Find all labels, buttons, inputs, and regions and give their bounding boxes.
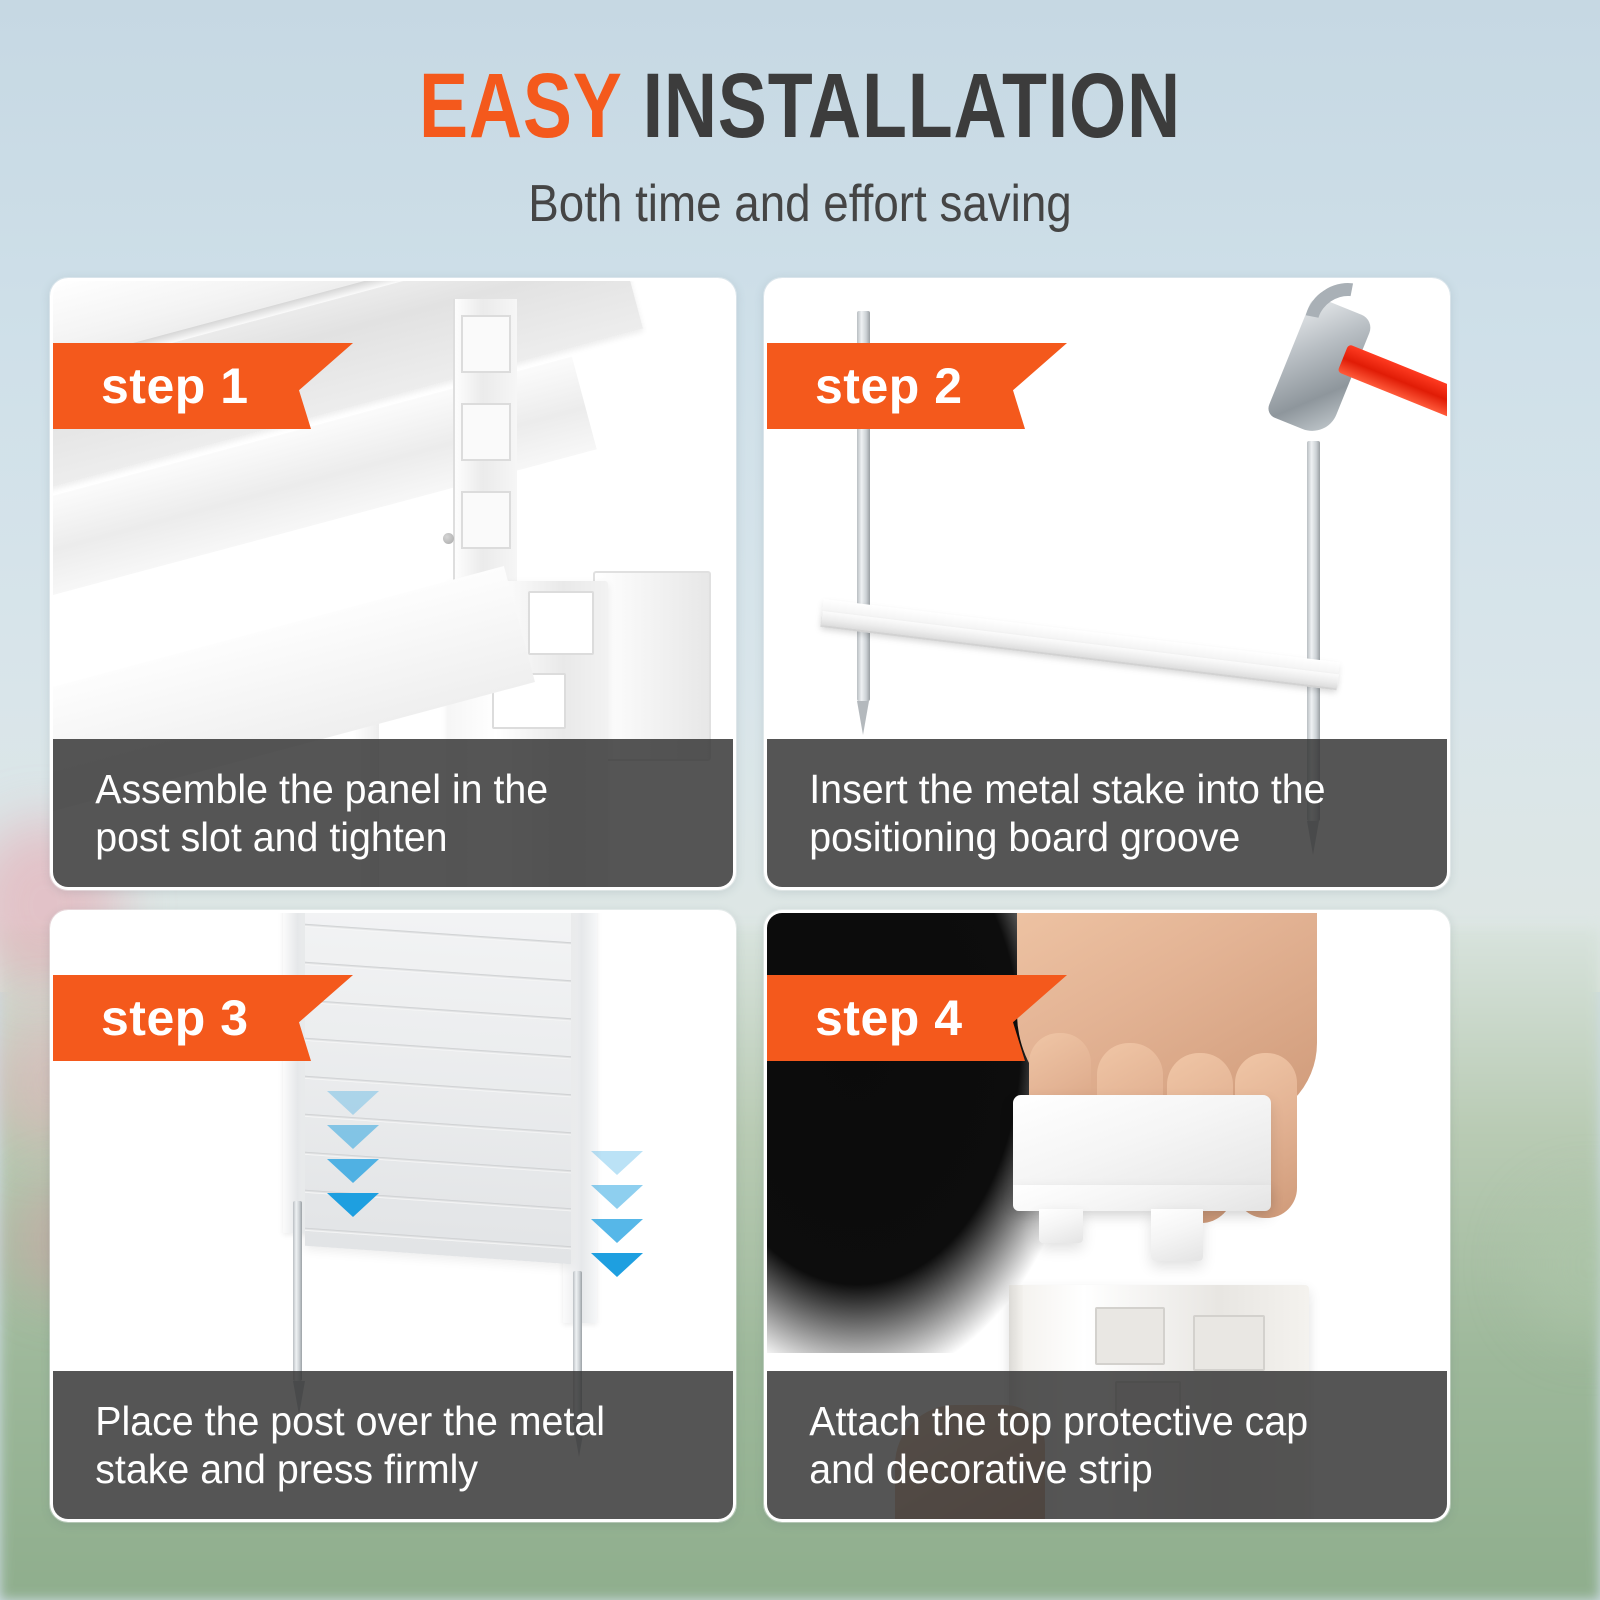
page-title: EASY INSTALLATION <box>160 60 1440 152</box>
panel-slat <box>305 1038 571 1060</box>
step-card-1[interactable]: step 1 Assemble the panel in the post sl… <box>50 278 736 890</box>
down-arrow-icon <box>327 1193 379 1217</box>
hammer-handle <box>1337 344 1447 428</box>
step-3-caption-text: Place the post over the metal stake and … <box>53 1387 630 1504</box>
cap-peg <box>1039 1209 1083 1243</box>
step-4-badge-label: step 4 <box>767 989 963 1047</box>
step-card-2[interactable]: step 2 Insert the metal stake into the p… <box>764 278 1450 890</box>
down-arrow-icon <box>327 1091 379 1115</box>
step-4-caption-text: Attach the top protective cap and decora… <box>767 1387 1333 1504</box>
panel-slat <box>305 1228 571 1250</box>
post-cavity <box>1193 1315 1265 1371</box>
step-4-caption: Attach the top protective cap and decora… <box>767 1371 1447 1519</box>
post-side-channel <box>593 571 711 761</box>
down-arrow-icon <box>591 1219 643 1243</box>
panel-cell <box>461 491 511 549</box>
step-2-caption-text: Insert the metal stake into the position… <box>767 755 1351 872</box>
page-title-rest: INSTALLATION <box>643 55 1181 157</box>
down-arrow-icon <box>327 1159 379 1183</box>
panel-end-cross-section <box>453 299 517 599</box>
positioning-board-flange <box>821 611 1339 688</box>
page-title-accent: EASY <box>419 55 621 157</box>
page-header: EASY INSTALLATION Both time and effort s… <box>0 0 1600 234</box>
down-arrow-icon <box>591 1185 643 1209</box>
metal-stake-left <box>293 1201 302 1381</box>
protective-cap-skirt <box>1013 1185 1271 1211</box>
step-card-4[interactable]: step 4 Attach the top protective cap and… <box>764 910 1450 1522</box>
step-3-badge-label: step 3 <box>53 989 249 1047</box>
down-arrow-icon <box>327 1125 379 1149</box>
panel-slat <box>305 1000 571 1022</box>
steps-grid: step 1 Assemble the panel in the post sl… <box>50 278 1550 1550</box>
post-slot <box>528 591 594 655</box>
step-2-badge-label: step 2 <box>767 357 963 415</box>
down-arrow-icon <box>591 1151 643 1175</box>
step-1-badge-label: step 1 <box>53 357 249 415</box>
step-3-caption: Place the post over the metal stake and … <box>53 1371 733 1519</box>
step-card-3[interactable]: step 3 Place the post over the metal sta… <box>50 910 736 1522</box>
screw-hole <box>443 533 454 544</box>
page-subtitle: Both time and effort saving <box>96 174 1504 234</box>
step-1-caption: Assemble the panel in the post slot and … <box>53 739 733 887</box>
panel-slat <box>305 924 571 946</box>
panel-cell <box>461 403 511 461</box>
step-1-caption-text: Assemble the panel in the post slot and … <box>53 755 573 872</box>
step-2-caption: Insert the metal stake into the position… <box>767 739 1447 887</box>
cap-peg <box>1151 1209 1203 1261</box>
down-arrow-icon <box>591 1253 643 1277</box>
panel-cell <box>461 315 511 373</box>
post-cavity <box>1095 1307 1165 1365</box>
